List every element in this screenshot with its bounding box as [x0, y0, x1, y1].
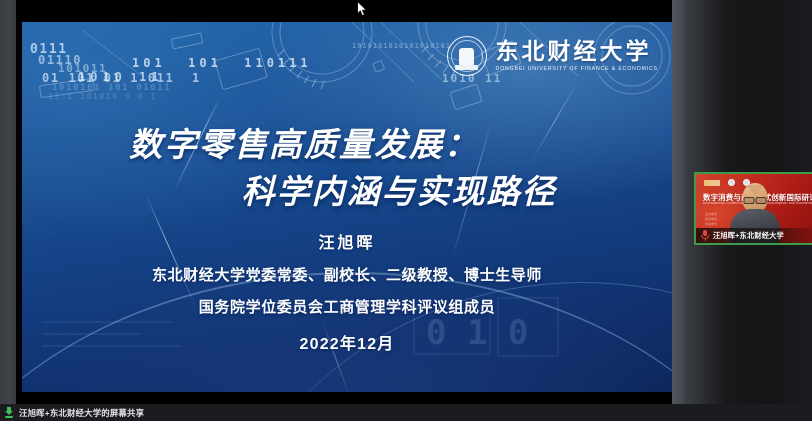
- slide-date: 2022年12月: [22, 337, 672, 353]
- screen-share-icon: [4, 407, 14, 418]
- slide-content: 数字零售高质量发展： 科学内涵与实现路径 汪旭晖 东北财经大学党委常委、副校长、…: [22, 22, 672, 392]
- participant-video-tile[interactable]: 数字消费与商业模式创新国际研讨会 International Conferenc…: [694, 172, 812, 245]
- screen-share-status-text: 汪旭晖+东北财经大学的屏幕共享: [19, 407, 144, 419]
- shared-slide[interactable]: 0 1 0 0111 01110 101011 01 101 01 1 011 …: [22, 22, 672, 392]
- slide-title: 数字零售高质量发展： 科学内涵与实现路径: [22, 122, 672, 216]
- speaker-organization: 国务院学位委员会工商管理学科评议组成员: [22, 300, 672, 315]
- slide-speaker-block: 汪旭晖 东北财经大学党委常委、副校长、二级教授、博士生导师 国务院学位委员会工商…: [22, 236, 672, 353]
- glasses-icon: [744, 197, 767, 202]
- meeting-window: 0 1 0 0111 01110 101011 01 101 01 1 011 …: [0, 0, 812, 421]
- speaker-role: 东北财经大学党委常委、副校长、二级教授、博士生导师: [22, 268, 672, 283]
- banner-sponsors: 主办单位 承办单位 协办单位: [705, 212, 717, 227]
- left-rail: [0, 0, 16, 404]
- speaker-name: 汪旭晖: [22, 236, 672, 252]
- microphone-icon[interactable]: [701, 230, 709, 241]
- slide-title-line-2: 科学内涵与实现路径: [22, 169, 672, 216]
- participant-nameplate: 汪旭晖+东北财经大学: [696, 228, 812, 243]
- sponsor-logo-icon: [704, 180, 720, 186]
- screen-share-statusbar: 汪旭晖+东北财经大学的屏幕共享: [0, 404, 812, 421]
- pane-divider[interactable]: [672, 0, 684, 404]
- slide-title-line-1: 数字零售高质量发展：: [22, 122, 672, 169]
- participant-name: 汪旭晖+东北财经大学: [713, 231, 784, 241]
